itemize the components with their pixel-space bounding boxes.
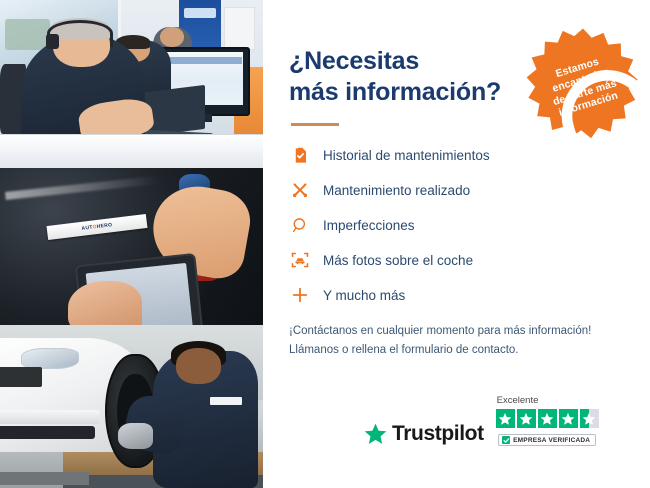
page-title: ¿Necesitas más información?	[289, 46, 519, 107]
contact-line-2: Llámanos o rellena el formulario de cont…	[289, 344, 519, 356]
feature-label: Más fotos sobre el coche	[323, 253, 473, 268]
trustpilot-logo[interactable]: Trustpilot	[363, 422, 484, 446]
star-3	[538, 409, 557, 428]
tools-cross-icon	[289, 179, 311, 201]
star-5-half	[580, 409, 599, 428]
title-divider	[291, 123, 339, 126]
verified-label: EMPRESA VERIFICADA	[513, 437, 590, 444]
plus-icon	[289, 284, 311, 306]
headline-line-1: ¿Necesitas	[289, 47, 419, 75]
feature-label: Y mucho más	[323, 288, 405, 303]
trustpilot-rating-block: Excelente	[496, 395, 599, 446]
autohero-ruler-label: AUTOHERO	[82, 222, 113, 232]
star-1	[496, 409, 515, 428]
trustpilot-rating-label: Excelente	[497, 395, 539, 406]
car-scan-frame-icon	[289, 249, 311, 271]
contact-text: ¡Contáctanos en cualquier momento para m…	[289, 322, 624, 359]
status-badge: Estamos encantados de darte más informac…	[522, 26, 644, 148]
trustpilot-star-icon	[363, 422, 388, 446]
content-column: ¿Necesitas más información? Historial de…	[263, 0, 650, 488]
trustpilot-stars	[496, 409, 599, 428]
feature-label: Mantenimiento realizado	[323, 183, 470, 198]
feature-item-more-photos: Más fotos sobre el coche	[289, 249, 624, 271]
photo-column: AUTOHERO	[0, 0, 263, 488]
car-inspection-ruler-photo: AUTOHERO	[0, 168, 263, 325]
feature-label: Imperfecciones	[323, 218, 415, 233]
call-center-agents-photo	[0, 0, 263, 168]
star-2	[517, 409, 536, 428]
feature-item-imperfections: Imperfecciones	[289, 214, 624, 236]
mechanic-wheel-photo	[0, 325, 263, 488]
magnifier-icon	[289, 214, 311, 236]
verified-company-badge: EMPRESA VERIFICADA	[498, 434, 596, 446]
checklist-document-icon	[289, 144, 311, 166]
headline-line-2: más información?	[289, 78, 501, 106]
info-promo-card: AUTOHERO	[0, 0, 650, 488]
feature-label: Historial de mantenimientos	[323, 148, 490, 163]
check-icon	[502, 436, 510, 444]
feature-item-much-more: Y mucho más	[289, 284, 624, 306]
trustpilot-wordmark: Trustpilot	[392, 422, 484, 446]
star-4	[559, 409, 578, 428]
contact-line-1: ¡Contáctanos en cualquier momento para m…	[289, 325, 591, 337]
trustpilot-widget[interactable]: Trustpilot Excelente	[363, 395, 599, 446]
